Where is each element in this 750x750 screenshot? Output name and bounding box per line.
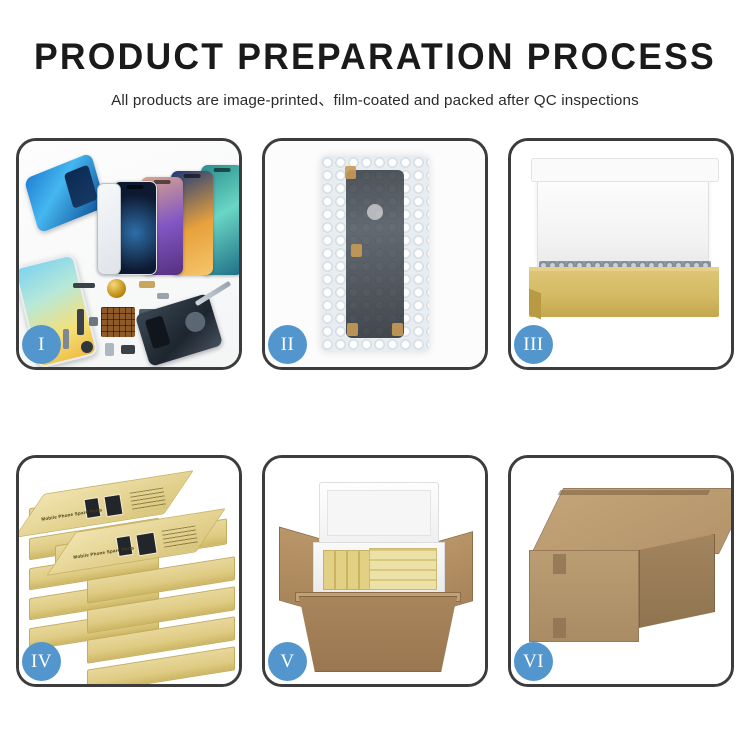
phone-lineup-icon bbox=[97, 155, 239, 275]
page-title: PRODUCT PREPARATION PROCESS bbox=[15, 38, 735, 77]
phone-chassis-icon bbox=[135, 293, 223, 367]
process-step-card-5[interactable]: V bbox=[262, 455, 488, 687]
tape-icon bbox=[345, 166, 356, 179]
step-badge-6: VI bbox=[514, 642, 553, 681]
page-subtitle: All products are image-printed、film-coat… bbox=[0, 88, 750, 110]
process-step-card-3[interactable]: III bbox=[508, 138, 734, 370]
blue-screen-part-icon bbox=[24, 152, 106, 233]
tape-icon bbox=[351, 244, 362, 257]
process-step-grid: I II III bbox=[16, 138, 734, 687]
spare-part-icon bbox=[63, 329, 69, 349]
yellow-boxes-icon bbox=[369, 548, 437, 590]
foam-lid-icon bbox=[319, 482, 439, 544]
spare-part-icon bbox=[81, 341, 93, 353]
lid-window-icon bbox=[103, 494, 123, 517]
notch-icon bbox=[154, 180, 171, 184]
copper-mesh-icon bbox=[101, 307, 135, 337]
tape-icon bbox=[392, 323, 403, 336]
process-step-card-6[interactable]: VI bbox=[508, 455, 734, 687]
spare-part-icon bbox=[89, 317, 98, 326]
notch-icon bbox=[184, 174, 201, 178]
process-step-card-4[interactable]: Mobile Phone Spare Parts Mobile Phone Sp… bbox=[16, 455, 242, 687]
notch-icon bbox=[127, 185, 144, 189]
carton-side-icon bbox=[639, 534, 715, 628]
carton-body-icon bbox=[299, 596, 457, 672]
foam-sheet-icon bbox=[537, 163, 709, 277]
spare-part-icon bbox=[77, 309, 84, 335]
notch-icon bbox=[214, 168, 231, 172]
tape-icon bbox=[553, 554, 566, 574]
product-preparation-infographic: PRODUCT PREPARATION PROCESS All products… bbox=[0, 0, 750, 750]
yellow-tray-icon bbox=[529, 269, 719, 317]
tray-side-icon bbox=[529, 289, 541, 320]
bubble-bag-icon bbox=[321, 156, 429, 352]
tape-icon bbox=[347, 323, 358, 336]
tape-icon bbox=[553, 618, 566, 638]
tweezers-icon bbox=[195, 281, 232, 306]
box-stack: Mobile Phone Spare Parts Mobile Phone Sp… bbox=[27, 476, 233, 672]
spare-part-icon bbox=[157, 293, 169, 299]
carton-seam-icon bbox=[558, 490, 710, 495]
step-badge-3: III bbox=[514, 325, 553, 364]
header: PRODUCT PREPARATION PROCESS All products… bbox=[0, 0, 750, 110]
speaker-coil-icon bbox=[107, 279, 126, 298]
process-step-card-2[interactable]: II bbox=[262, 138, 488, 370]
step-badge-5: V bbox=[268, 642, 307, 681]
lid-window-icon bbox=[135, 532, 157, 557]
step-badge-2: II bbox=[268, 325, 307, 364]
process-step-card-1[interactable]: I bbox=[16, 138, 242, 370]
screen-glass-icon bbox=[97, 183, 121, 275]
spare-part-icon bbox=[121, 345, 135, 354]
carton-front-icon bbox=[529, 550, 639, 642]
step-badge-1: I bbox=[22, 325, 61, 364]
step-badge-4: IV bbox=[22, 642, 61, 681]
spare-part-icon bbox=[73, 283, 95, 288]
spare-part-icon bbox=[105, 343, 114, 356]
spare-part-icon bbox=[139, 281, 155, 288]
